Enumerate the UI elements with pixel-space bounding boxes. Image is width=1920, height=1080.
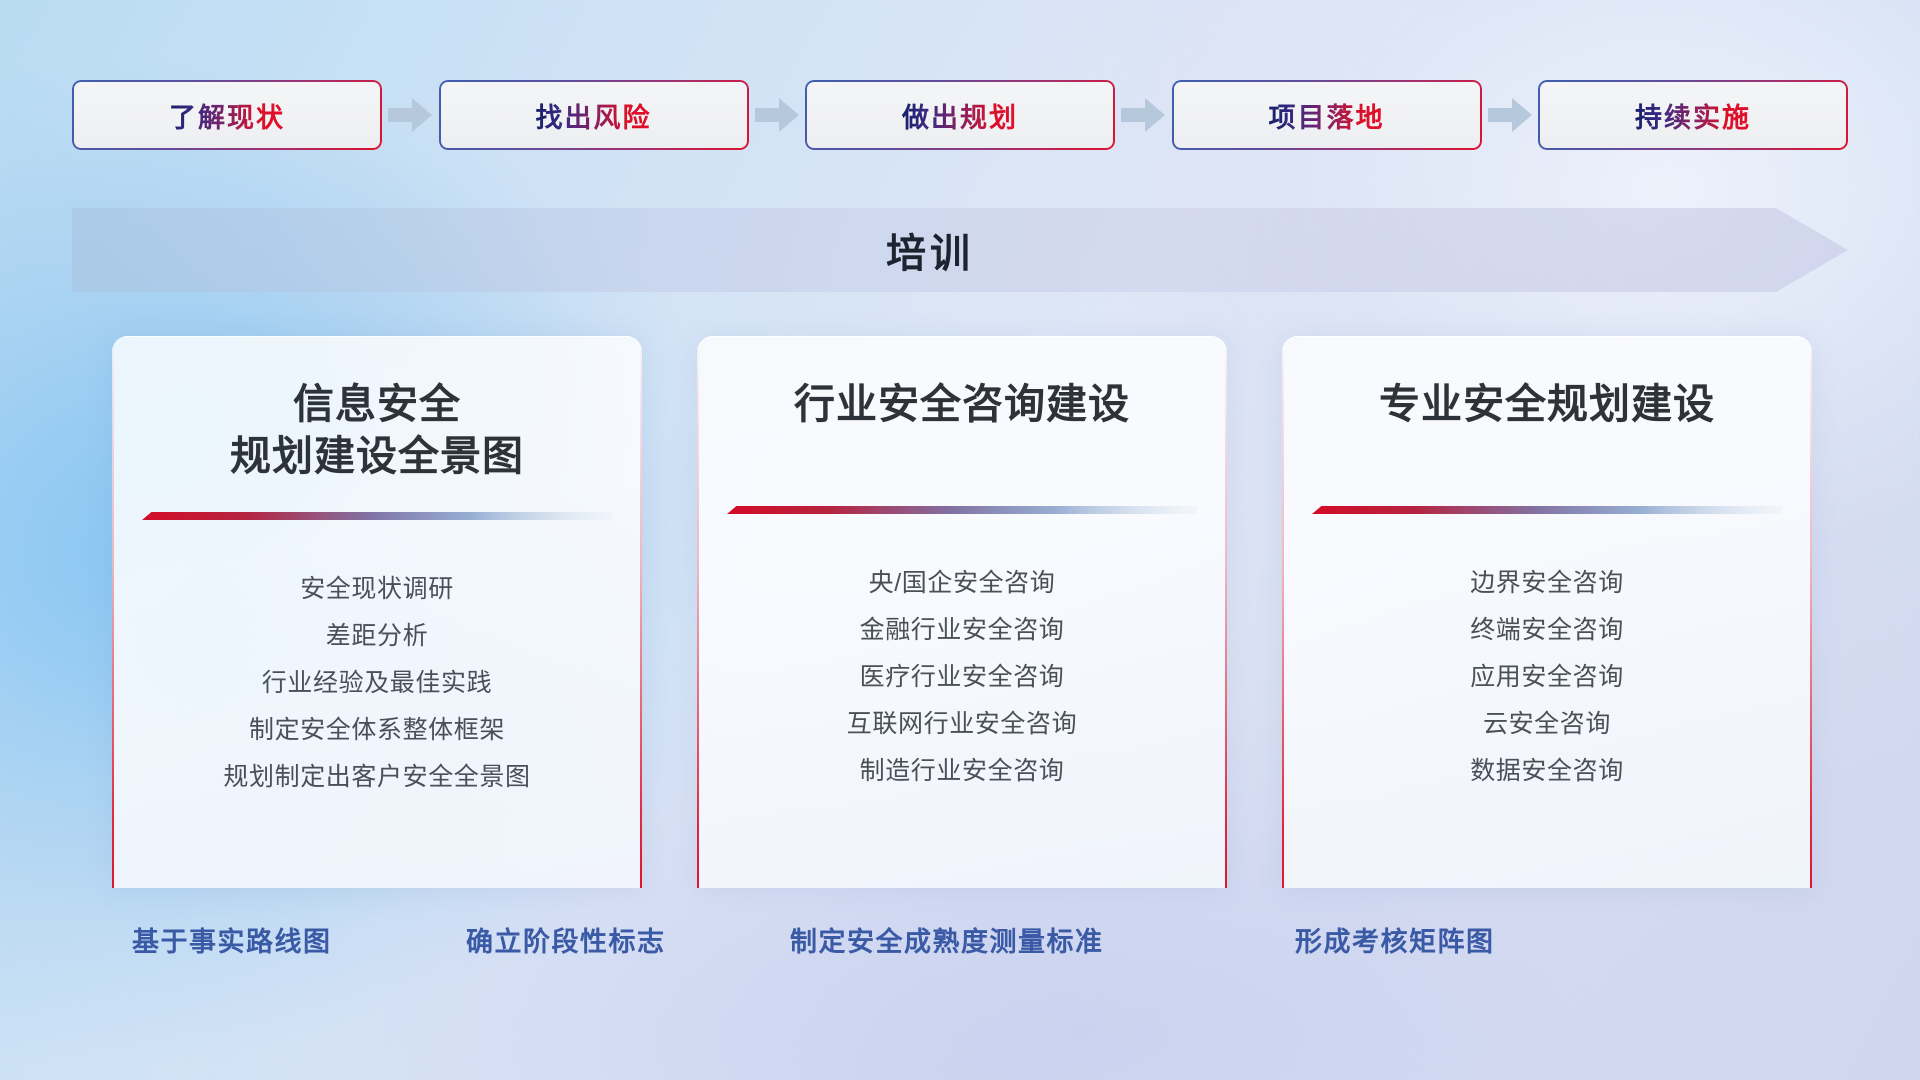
arrow-right-icon-4	[1482, 95, 1539, 135]
process-step-4[interactable]: 项目落地	[1172, 80, 1482, 150]
list-item: 边界安全咨询	[1312, 560, 1782, 607]
process-step-label: 找出风险	[536, 96, 652, 135]
card-title: 行业安全咨询建设	[727, 378, 1197, 430]
card-rail-right	[1225, 350, 1227, 888]
list-item: 数据安全咨询	[1312, 748, 1782, 795]
list-item: 互联网行业安全咨询	[727, 701, 1197, 748]
card-industry-security-consulting[interactable]: 行业安全咨询建设 央	[697, 336, 1227, 888]
caption-matrix: 形成考核矩阵图	[1295, 920, 1495, 959]
training-banner: 培训	[72, 208, 1848, 292]
caption-roadmap: 基于事实路线图	[132, 920, 332, 959]
card-rail-left	[112, 350, 114, 888]
card-information-security-panorama[interactable]: 信息安全 规划建设全景图	[112, 336, 642, 888]
process-step-2[interactable]: 找出风险	[439, 80, 749, 150]
card-item-list: 安全现状调研 差距分析 行业经验及最佳实践 制定安全体系整体框架 规划制定出客户…	[142, 566, 612, 801]
list-item: 金融行业安全咨询	[727, 607, 1197, 654]
list-item: 行业经验及最佳实践	[142, 660, 612, 707]
list-item: 安全现状调研	[142, 566, 612, 613]
card-title: 信息安全 规划建设全景图	[142, 378, 612, 482]
process-step-label: 了解现状	[169, 96, 285, 135]
card-accent-divider	[727, 488, 1197, 534]
arrow-right-icon-3	[1115, 95, 1172, 135]
process-step-label: 持续实施	[1635, 96, 1751, 135]
card-rail-right	[640, 350, 642, 888]
card-title-line-1: 信息安全	[142, 378, 612, 430]
caption-milestones: 确立阶段性标志	[466, 920, 666, 959]
card-professional-security-planning[interactable]: 专业安全规划建设 边	[1282, 336, 1812, 888]
card-title-line-1: 行业安全咨询建设	[727, 378, 1197, 430]
card-title-line-1: 专业安全规划建设	[1312, 378, 1782, 430]
list-item: 云安全咨询	[1312, 701, 1782, 748]
process-step-5[interactable]: 持续实施	[1538, 80, 1848, 150]
arrow-right-icon-2	[749, 95, 806, 135]
card-item-list: 央/国企安全咨询 金融行业安全咨询 医疗行业安全咨询 互联网行业安全咨询 制造行…	[727, 560, 1197, 795]
list-item: 应用安全咨询	[1312, 654, 1782, 701]
card-item-list: 边界安全咨询 终端安全咨询 应用安全咨询 云安全咨询 数据安全咨询	[1312, 560, 1782, 795]
card-rail-right	[1810, 350, 1812, 888]
arrow-right-icon-1	[382, 95, 439, 135]
card-title: 专业安全规划建设	[1312, 378, 1782, 430]
list-item: 终端安全咨询	[1312, 607, 1782, 654]
card-accent-divider	[142, 494, 612, 540]
list-item: 医疗行业安全咨询	[727, 654, 1197, 701]
card-title-line-2: 规划建设全景图	[142, 430, 612, 482]
list-item: 制造行业安全咨询	[727, 748, 1197, 795]
card-group: 信息安全 规划建设全景图	[112, 336, 1812, 888]
card-accent-divider	[1312, 488, 1782, 534]
caption-maturity-scale: 制定安全成熟度测量标准	[790, 920, 1104, 959]
card-rail-left	[1282, 350, 1284, 888]
process-step-3[interactable]: 做出规划	[805, 80, 1115, 150]
list-item: 央/国企安全咨询	[727, 560, 1197, 607]
banner-title: 培训	[72, 208, 1848, 292]
process-step-label: 项目落地	[1269, 96, 1385, 135]
caption-row: 基于事实路线图 确立阶段性标志 制定安全成熟度测量标准 形成考核矩阵图	[0, 920, 1920, 970]
list-item: 制定安全体系整体框架	[142, 707, 612, 754]
process-step-1[interactable]: 了解现状	[72, 80, 382, 150]
list-item: 差距分析	[142, 613, 612, 660]
slide-canvas: 了解现状 找出风险 做出规划 项目落地	[0, 0, 1920, 1080]
process-step-label: 做出规划	[902, 96, 1018, 135]
process-step-row: 了解现状 找出风险 做出规划 项目落地	[72, 78, 1848, 152]
card-rail-left	[697, 350, 699, 888]
list-item: 规划制定出客户安全全景图	[142, 754, 612, 801]
